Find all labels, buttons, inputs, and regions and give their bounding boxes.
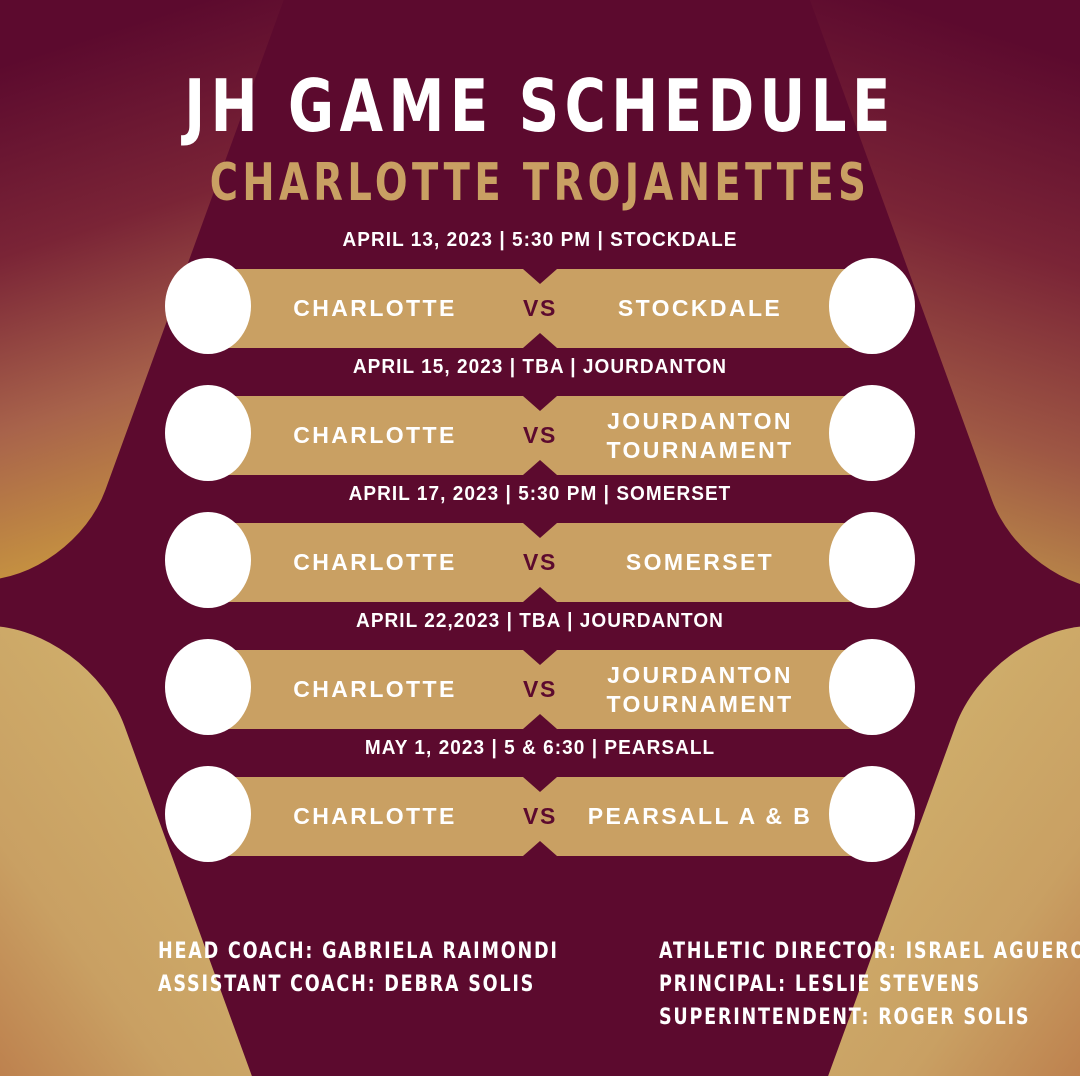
schedule-poster: JH GAME SCHEDULE CHARLOTTE TROJANETTES A…	[0, 0, 1080, 1076]
game-row: APRIL 22,2023 | TBA | JOURDANTONCHARLOTT…	[0, 610, 1080, 737]
matchup: CHARLOTTEVSPEARSALL A & B	[0, 769, 1080, 864]
home-team-name: CHARLOTTE	[240, 777, 510, 856]
game-row: APRIL 17, 2023 | 5:30 PM | SOMERSETCHARL…	[0, 483, 1080, 610]
matchup: CHARLOTTEVSSOMERSET	[0, 515, 1080, 610]
credit-line: ATHLETIC DIRECTOR: ISRAEL AGUERO	[659, 939, 1080, 964]
matchup: CHARLOTTEVSJOURDANTON TOURNAMENT	[0, 388, 1080, 483]
team-logo-placeholder-home	[165, 766, 251, 862]
team-logo-placeholder-away	[829, 639, 915, 735]
credit-line: SUPERINTENDENT: ROGER SOLIS	[659, 1005, 1030, 1030]
team-logo-placeholder-away	[829, 512, 915, 608]
vs-label: VS	[523, 269, 557, 348]
matchup: CHARLOTTEVSJOURDANTON TOURNAMENT	[0, 642, 1080, 737]
matchup: CHARLOTTEVSSTOCKDALE	[0, 261, 1080, 356]
game-row: MAY 1, 2023 | 5 & 6:30 | PEARSALLCHARLOT…	[0, 737, 1080, 864]
away-team-name: JOURDANTON TOURNAMENT	[560, 650, 840, 729]
game-row: APRIL 13, 2023 | 5:30 PM | STOCKDALECHAR…	[0, 229, 1080, 356]
vs-label: VS	[523, 650, 557, 729]
home-team-name: CHARLOTTE	[240, 269, 510, 348]
team-logo-placeholder-home	[165, 512, 251, 608]
team-logo-placeholder-away	[829, 258, 915, 354]
staff-credits: HEAD COACH: GABRIELA RAIMONDIASSISTANT C…	[0, 939, 1080, 1030]
credit-line: PRINCIPAL: LESLIE STEVENS	[659, 972, 981, 997]
staff-credits-right: ATHLETIC DIRECTOR: ISRAEL AGUEROPRINCIPA…	[659, 939, 1080, 1030]
game-meta: APRIL 17, 2023 | 5:30 PM | SOMERSET	[27, 483, 1053, 506]
home-team-name: CHARLOTTE	[240, 523, 510, 602]
game-meta: APRIL 22,2023 | TBA | JOURDANTON	[27, 610, 1053, 633]
team-logo-placeholder-home	[165, 639, 251, 735]
team-logo-placeholder-away	[829, 766, 915, 862]
away-team-name: SOMERSET	[560, 523, 840, 602]
away-team-name: JOURDANTON TOURNAMENT	[560, 396, 840, 475]
game-meta: MAY 1, 2023 | 5 & 6:30 | PEARSALL	[27, 737, 1053, 760]
game-meta: APRIL 13, 2023 | 5:30 PM | STOCKDALE	[27, 229, 1053, 252]
credit-line: ASSISTANT COACH: DEBRA SOLIS	[158, 972, 559, 997]
home-team-name: CHARLOTTE	[240, 650, 510, 729]
away-team-name: STOCKDALE	[560, 269, 840, 348]
team-logo-placeholder-home	[165, 385, 251, 481]
vs-label: VS	[523, 396, 557, 475]
team-subtitle: CHARLOTTE TROJANETTES	[140, 157, 939, 209]
team-logo-placeholder-home	[165, 258, 251, 354]
team-logo-placeholder-away	[829, 385, 915, 481]
staff-credits-left: HEAD COACH: GABRIELA RAIMONDIASSISTANT C…	[158, 939, 659, 1030]
home-team-name: CHARLOTTE	[240, 396, 510, 475]
credit-line: HEAD COACH: GABRIELA RAIMONDI	[158, 939, 559, 964]
vs-label: VS	[523, 523, 557, 602]
page-title: JH GAME SCHEDULE	[119, 72, 961, 141]
vs-label: VS	[523, 777, 557, 856]
game-meta: APRIL 15, 2023 | TBA | JOURDANTON	[27, 356, 1053, 379]
game-list: APRIL 13, 2023 | 5:30 PM | STOCKDALECHAR…	[0, 229, 1080, 864]
title-block: JH GAME SCHEDULE CHARLOTTE TROJANETTES	[0, 0, 1080, 209]
away-team-name: PEARSALL A & B	[560, 777, 840, 856]
game-row: APRIL 15, 2023 | TBA | JOURDANTONCHARLOT…	[0, 356, 1080, 483]
